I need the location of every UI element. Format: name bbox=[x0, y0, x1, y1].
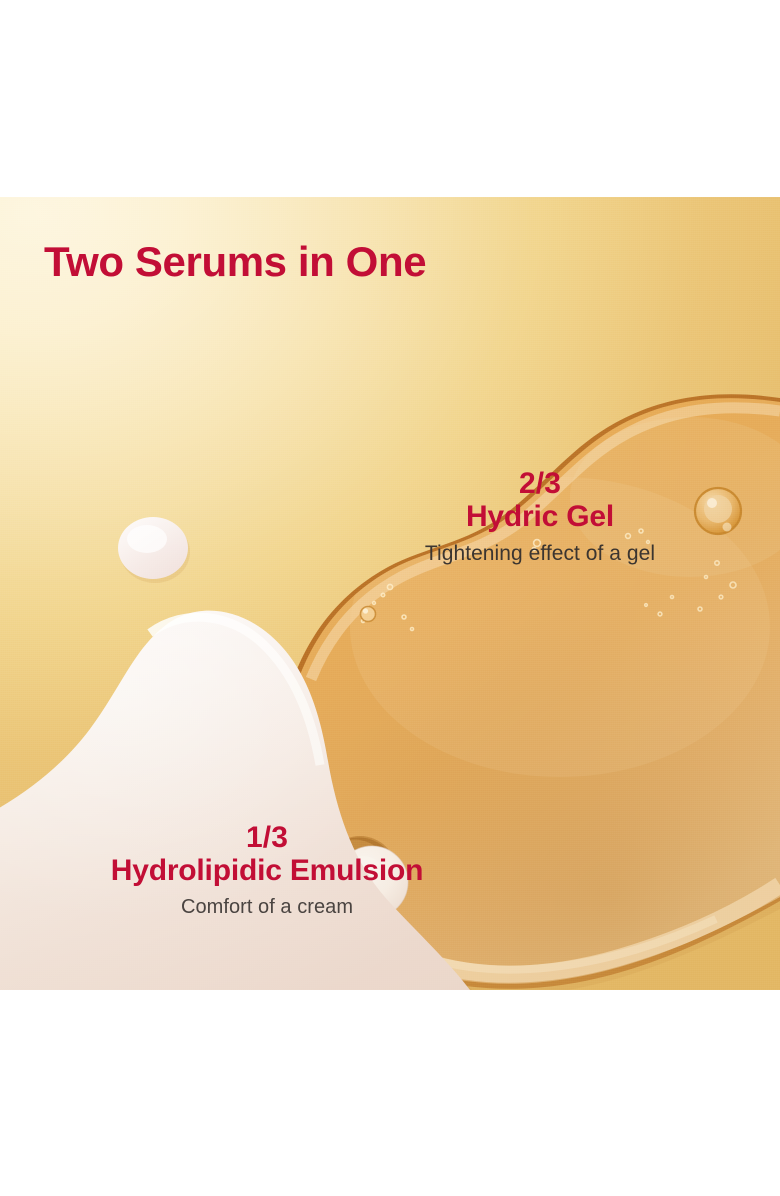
callout-name: Hydrolipidic Emulsion bbox=[49, 853, 485, 888]
callout-fraction: 2/3 bbox=[349, 466, 731, 501]
cream-droplet-small bbox=[118, 517, 190, 583]
callout-hydric-gel: 2/3 Hydric Gel Tightening effect of a ge… bbox=[349, 466, 731, 567]
callout-name: Hydric Gel bbox=[349, 499, 731, 534]
callout-description: Comfort of a cream bbox=[49, 894, 485, 920]
callout-hydrolipidic-emulsion: 1/3 Hydrolipidic Emulsion Comfort of a c… bbox=[49, 820, 485, 920]
callout-fraction: 1/3 bbox=[49, 820, 485, 855]
letterbox-top bbox=[0, 0, 780, 197]
page-title: Two Serums in One bbox=[44, 240, 426, 284]
callout-description: Tightening effect of a gel bbox=[349, 540, 731, 567]
screenshot-canvas: Two Serums in One 2/3 Hydric Gel Tighten… bbox=[0, 0, 780, 1196]
letterbox-bottom bbox=[0, 990, 780, 1196]
